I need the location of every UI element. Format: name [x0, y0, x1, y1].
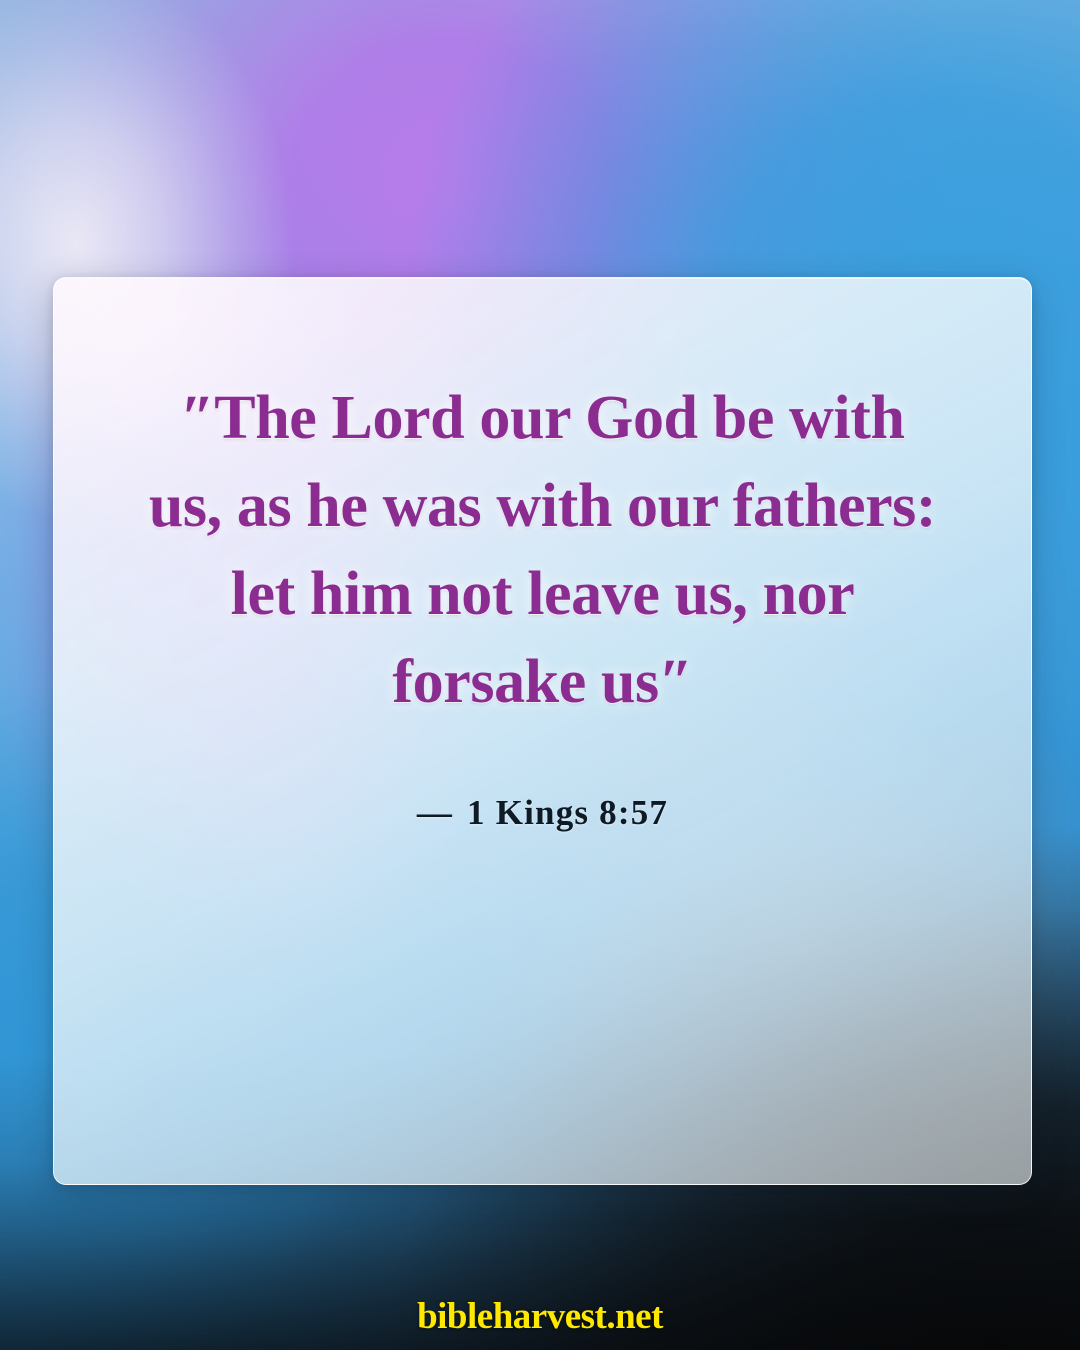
- quote-line: us, as he was with our fathers:: [106, 462, 979, 550]
- scripture-reference: 1 Kings 8:57: [467, 793, 668, 832]
- verse-quote: ″The Lord our God be with us, as he was …: [54, 374, 1031, 726]
- verse-attribution: —1 Kings 8:57: [54, 793, 1031, 833]
- quote-line: forsake us″: [106, 638, 979, 726]
- site-watermark: bibleharvest.net: [0, 1295, 1080, 1338]
- quote-line: ″The Lord our God be with: [106, 374, 979, 462]
- em-dash-icon: —: [417, 793, 453, 832]
- verse-card: ″The Lord our God be with us, as he was …: [53, 277, 1032, 1185]
- quote-line: let him not leave us, nor: [106, 550, 979, 638]
- verse-image-canvas: ″The Lord our God be with us, as he was …: [0, 0, 1080, 1350]
